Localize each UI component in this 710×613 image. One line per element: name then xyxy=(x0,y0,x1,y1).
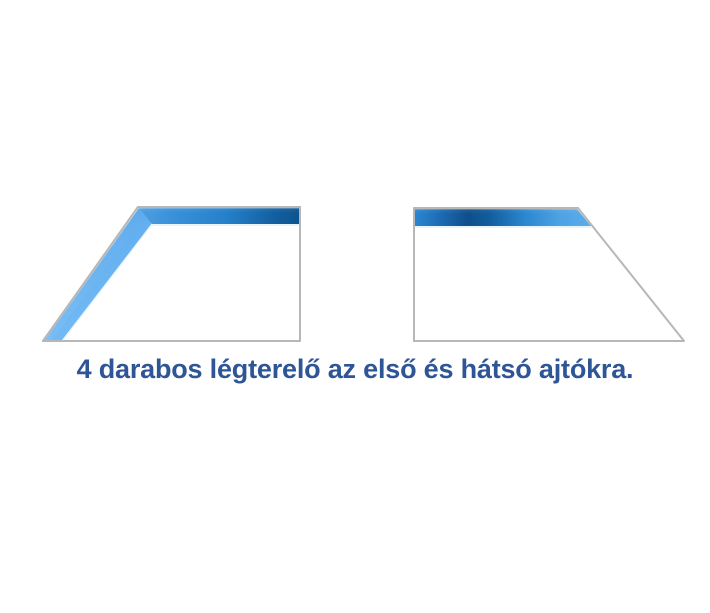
rear-deflector-top-sheen xyxy=(415,209,581,214)
front-door-window xyxy=(43,207,300,341)
illustration-canvas: 4 darabos légterelő az első és hátsó ajt… xyxy=(0,0,710,613)
diagram-svg xyxy=(0,0,710,350)
wind-deflector-diagram xyxy=(0,0,710,350)
caption-text: 4 darabos légterelő az első és hátsó ajt… xyxy=(0,352,710,386)
front-deflector-top-sheen xyxy=(139,208,299,213)
front-window-outline xyxy=(43,207,300,341)
rear-door-window xyxy=(414,208,684,341)
rear-window-outline xyxy=(414,208,684,341)
